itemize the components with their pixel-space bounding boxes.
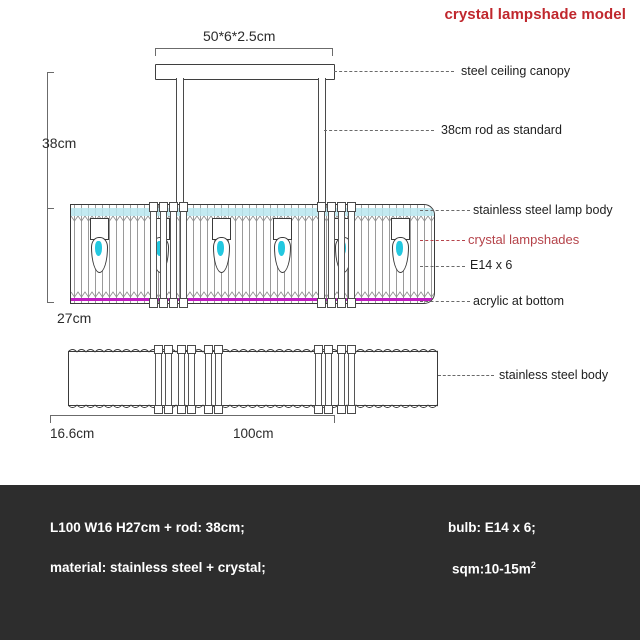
body-height-label: 27cm [57, 310, 91, 326]
support-post-2 [160, 205, 167, 303]
plan-bar-foot [164, 405, 173, 414]
leader-stainless-lamp-body [420, 210, 470, 211]
plan-bar-cap [164, 345, 173, 354]
drop-rod-left [176, 78, 184, 208]
annotation-rod-standard: 38cm rod as standard [441, 123, 562, 137]
annotation-acrylic-bottom: acrylic at bottom [473, 294, 564, 308]
post-cap [179, 202, 188, 212]
bulb-flame [278, 241, 285, 256]
spec-bulb: bulb: E14 x 6; [448, 520, 536, 535]
left-dimension-axis [47, 72, 48, 303]
plan-bar-3 [178, 348, 185, 410]
post-foot [327, 298, 336, 308]
stainless-top-band [71, 208, 435, 216]
leader-stainless-steel-body [438, 375, 494, 376]
plan-bar-foot [347, 405, 356, 414]
crystal-tip-zigzag [71, 291, 435, 298]
plan-bar-foot [337, 405, 346, 414]
post-foot [317, 298, 326, 308]
lamp-plan-view [68, 345, 438, 413]
support-post-3 [170, 205, 177, 303]
post-cap [337, 202, 346, 212]
post-foot [337, 298, 346, 308]
post-cap [327, 202, 336, 212]
bulb-flame [396, 241, 403, 256]
plan-bar-cap [204, 345, 213, 354]
page-title: crystal lampshade model [444, 6, 626, 23]
leader-bulb-count [420, 266, 465, 267]
plan-bar-cap [337, 345, 346, 354]
rod-height-label: 38cm [42, 135, 76, 151]
bulb-flame [217, 241, 224, 256]
leader-crystal-lampshades [420, 240, 465, 241]
post-cap [347, 202, 356, 212]
spec-sqm-unit: m [519, 562, 531, 577]
spec-size: L100 W16 H27cm + rod: 38cm; [50, 520, 245, 535]
plan-bar-foot [314, 405, 323, 414]
post-foot [169, 298, 178, 308]
post-cap [169, 202, 178, 212]
plan-bar-6 [215, 348, 222, 410]
acrylic-bottom-line [71, 298, 435, 301]
plan-scallop-top [68, 347, 438, 353]
left-dim-tick-bottom [47, 302, 54, 303]
plan-scallop-bottom [68, 404, 438, 410]
post-foot [347, 298, 356, 308]
plan-bar-cap [314, 345, 323, 354]
plan-shell [68, 351, 438, 406]
plan-bar-9 [338, 348, 345, 410]
leader-rod-standard [324, 130, 434, 131]
plan-bar-8 [325, 348, 332, 410]
crystal-rod-field [71, 205, 434, 303]
plan-bar-10 [348, 348, 355, 410]
plan-bar-2 [165, 348, 172, 410]
annotation-stainless-lamp-body: stainless steel lamp body [473, 203, 613, 217]
lamp-body-elevation [70, 204, 435, 304]
plan-bar-cap [214, 345, 223, 354]
plan-bar-5 [205, 348, 212, 410]
plan-bar-foot [177, 405, 186, 414]
support-post-8 [348, 205, 355, 303]
plan-bar-foot [154, 405, 163, 414]
post-foot [159, 298, 168, 308]
bulb-flame [95, 241, 102, 256]
plan-bar-4 [188, 348, 195, 410]
post-cap [317, 202, 326, 212]
post-cap [159, 202, 168, 212]
annotation-steel-ceiling-canopy: steel ceiling canopy [461, 64, 570, 78]
annotation-stainless-steel-body: stainless steel body [499, 368, 608, 382]
plan-bar-cap [154, 345, 163, 354]
plan-depth-label: 16.6cm [50, 426, 94, 441]
annotation-bulb-count: E14 x 6 [470, 258, 512, 272]
crystal-tip-zigzag [71, 215, 435, 222]
plan-bar-foot [187, 405, 196, 414]
post-cap [149, 202, 158, 212]
plan-bar-cap [347, 345, 356, 354]
annotation-crystal-lampshades: crystal lampshades [468, 232, 579, 247]
left-dim-tick-top [47, 72, 54, 73]
support-post-7 [338, 205, 345, 303]
canopy-dimension-bracket [155, 48, 333, 56]
support-post-6 [328, 205, 335, 303]
spec-bar: L100 W16 H27cm + rod: 38cm; bulb: E14 x … [0, 485, 640, 640]
support-post-5 [318, 205, 325, 303]
post-foot [179, 298, 188, 308]
support-post-1 [150, 205, 157, 303]
plan-bar-cap [177, 345, 186, 354]
plan-bar-1 [155, 348, 162, 410]
leader-acrylic-bottom [420, 301, 470, 302]
plan-bar-foot [324, 405, 333, 414]
plan-width-label: 100cm [233, 426, 274, 441]
plan-bar-7 [315, 348, 322, 410]
post-foot [149, 298, 158, 308]
leader-steel-ceiling-canopy [334, 71, 454, 72]
plan-bar-cap [187, 345, 196, 354]
support-post-4 [180, 205, 187, 303]
drop-rod-right [318, 78, 326, 208]
canopy-dimension-label: 50*6*2.5cm [203, 28, 275, 44]
plan-dimension-bracket [50, 415, 335, 423]
spec-sqm: sqm:10-15m2 [452, 560, 536, 577]
lamp-body-shell [70, 204, 435, 304]
spec-sqm-text: sqm:10-15 [452, 562, 519, 577]
spec-sqm-superscript: 2 [531, 560, 536, 570]
plan-bar-foot [214, 405, 223, 414]
left-dim-tick-mid [47, 208, 54, 209]
plan-bar-foot [204, 405, 213, 414]
plan-bar-cap [324, 345, 333, 354]
spec-material: material: stainless steel + crystal; [50, 560, 266, 575]
diagram-canvas: crystal lampshade model 50*6*2.5cm 38cm … [0, 0, 640, 640]
